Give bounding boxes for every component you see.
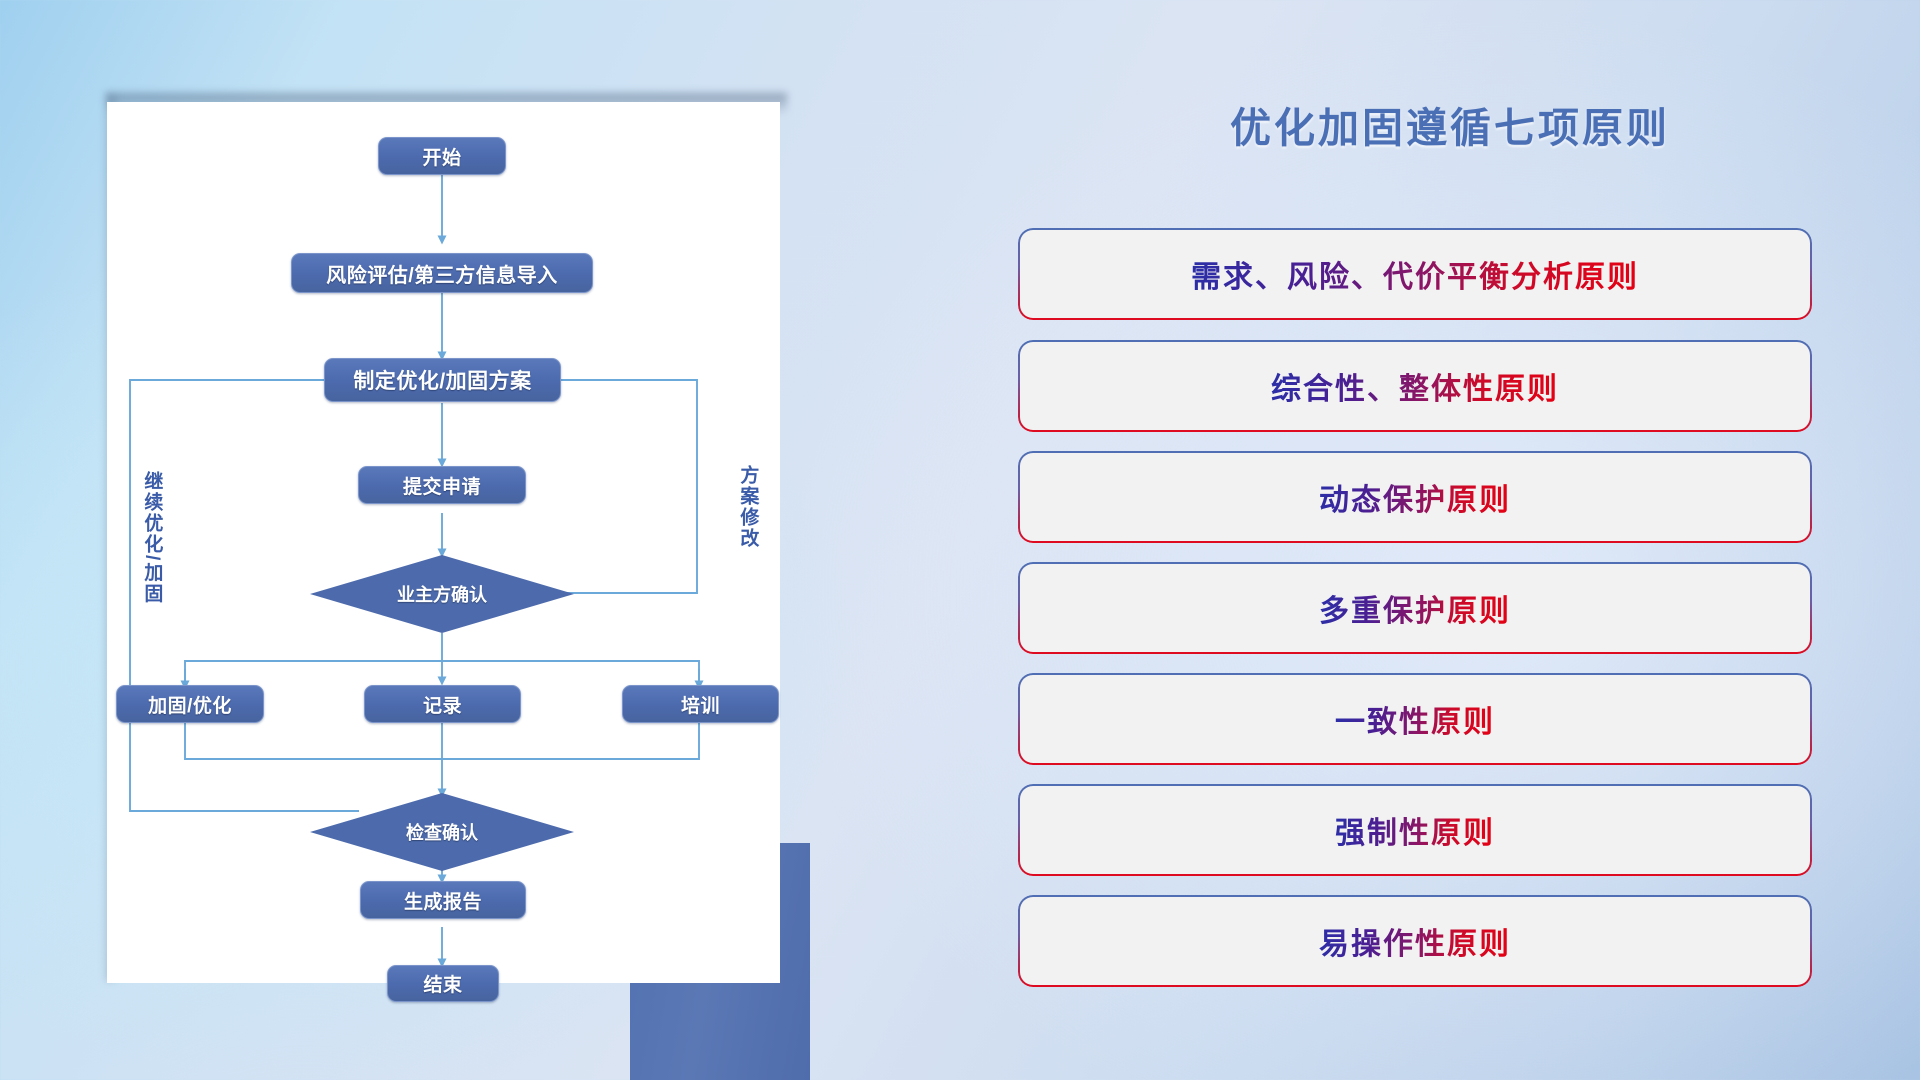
principle-item-2-label: 综合性、整体性原则	[1271, 364, 1559, 408]
flow-node-generate-report-label: 生成报告	[404, 887, 482, 914]
flow-node-training[interactable]: 培训	[622, 685, 779, 723]
principle-item-5[interactable]: 一致性原则	[1020, 675, 1810, 763]
principle-item-7[interactable]: 易操作性原则	[1020, 897, 1810, 985]
principles-panel: 优化加固遵循七项原则 需求、风险、代价平衡分析原则 综合性、整体性原则 动态保护…	[1020, 96, 1850, 1026]
principle-item-1[interactable]: 需求、风险、代价平衡分析原则	[1020, 230, 1810, 318]
flow-node-reinforce[interactable]: 加固/优化	[116, 685, 264, 723]
flow-node-check-confirm[interactable]: 检查确认	[310, 793, 574, 871]
flow-node-submit-application-label: 提交申请	[403, 472, 481, 499]
flow-node-end-label: 结束	[423, 970, 462, 997]
flow-node-generate-report[interactable]: 生成报告	[360, 881, 526, 919]
principle-item-4[interactable]: 多重保护原则	[1020, 564, 1810, 652]
flow-node-start[interactable]: 开始	[378, 137, 506, 175]
flow-node-training-label: 培训	[681, 691, 720, 718]
principle-item-1-label: 需求、风险、代价平衡分析原则	[1191, 252, 1639, 296]
flow-node-risk-assessment[interactable]: 风险评估/第三方信息导入	[291, 253, 593, 293]
flow-node-risk-assessment-label: 风险评估/第三方信息导入	[326, 259, 558, 288]
flow-node-plan-label: 制定优化/加固方案	[353, 365, 531, 395]
flow-node-plan[interactable]: 制定优化/加固方案	[324, 358, 561, 402]
flow-node-end[interactable]: 结束	[387, 965, 499, 1002]
principle-item-6-label: 强制性原则	[1335, 808, 1495, 852]
flow-node-owner-confirm-label: 业主方确认	[397, 581, 487, 607]
principle-item-5-label: 一致性原则	[1335, 697, 1495, 741]
flow-node-start-label: 开始	[422, 143, 461, 170]
edge-label-continue-optimize: 继续优化/加固	[142, 471, 161, 631]
page-title: 优化加固遵循七项原则	[1150, 96, 1750, 160]
principle-item-6[interactable]: 强制性原则	[1020, 786, 1810, 874]
principle-item-3-label: 动态保护原则	[1319, 475, 1511, 519]
principle-item-3[interactable]: 动态保护原则	[1020, 453, 1810, 541]
flow-node-submit-application[interactable]: 提交申请	[358, 466, 526, 504]
principle-item-4-label: 多重保护原则	[1319, 586, 1511, 630]
edge-label-plan-revision: 方案修改	[738, 465, 757, 575]
principle-item-7-label: 易操作性原则	[1319, 919, 1511, 963]
principle-item-2[interactable]: 综合性、整体性原则	[1020, 342, 1810, 430]
flow-node-reinforce-label: 加固/优化	[148, 691, 232, 718]
flowchart-panel: 开始 风险评估/第三方信息导入 制定优化/加固方案 提交申请 业主方确认 加固/…	[106, 93, 786, 991]
flow-node-owner-confirm[interactable]: 业主方确认	[310, 555, 574, 633]
flow-node-record-label: 记录	[423, 691, 462, 718]
flow-node-check-confirm-label: 检查确认	[406, 819, 478, 845]
flow-node-record[interactable]: 记录	[364, 685, 521, 723]
